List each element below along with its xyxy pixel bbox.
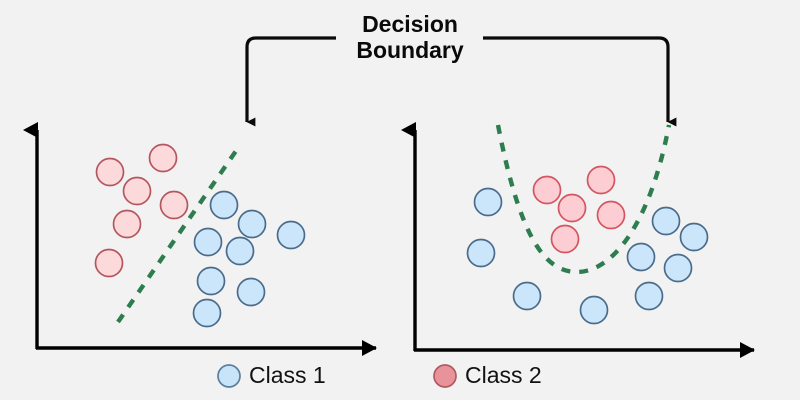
data-point <box>581 297 608 324</box>
legend-marker-class-2 <box>434 365 456 387</box>
legend: Class 1 Class 2 <box>218 362 542 388</box>
data-point <box>195 229 222 256</box>
data-point <box>239 211 266 238</box>
data-point <box>238 279 265 306</box>
data-point <box>114 211 141 238</box>
callout-label-line1: Decision <box>362 11 458 37</box>
legend-label-class-1: Class 1 <box>249 362 326 388</box>
data-point <box>227 238 254 265</box>
data-point <box>97 159 124 186</box>
right-panel <box>414 125 754 351</box>
data-point <box>598 202 625 229</box>
data-point <box>150 145 177 172</box>
callout-label-line2: Boundary <box>356 37 464 63</box>
data-point <box>278 222 305 249</box>
callout-label: Decision Boundary <box>356 11 464 63</box>
data-point <box>211 192 238 219</box>
left-class1-points <box>194 192 305 327</box>
data-point <box>552 226 579 253</box>
data-point <box>559 195 586 222</box>
data-point <box>534 177 561 204</box>
left-class2-points <box>96 145 188 277</box>
data-point <box>653 208 680 235</box>
legend-item-class-2: Class 2 <box>434 362 542 388</box>
data-point <box>161 192 188 219</box>
data-point <box>124 178 151 205</box>
data-point <box>665 255 692 282</box>
right-class2-points <box>534 167 625 253</box>
left-panel <box>36 130 376 349</box>
data-point <box>468 240 495 267</box>
data-point <box>194 300 221 327</box>
legend-item-class-1: Class 1 <box>218 362 326 388</box>
legend-label-class-2: Class 2 <box>465 362 542 388</box>
data-point <box>96 250 123 277</box>
data-point <box>681 224 708 251</box>
right-class1-points <box>468 189 708 324</box>
bracket-left-segment <box>247 38 336 122</box>
bracket-right-segment <box>483 38 668 122</box>
data-point <box>514 283 541 310</box>
decision-boundary-figure: Decision Boundary <box>0 0 800 400</box>
data-point <box>628 244 655 271</box>
data-point <box>198 268 225 295</box>
data-point <box>636 283 663 310</box>
data-point <box>588 167 615 194</box>
legend-marker-class-1 <box>218 365 240 387</box>
data-point <box>475 189 502 216</box>
